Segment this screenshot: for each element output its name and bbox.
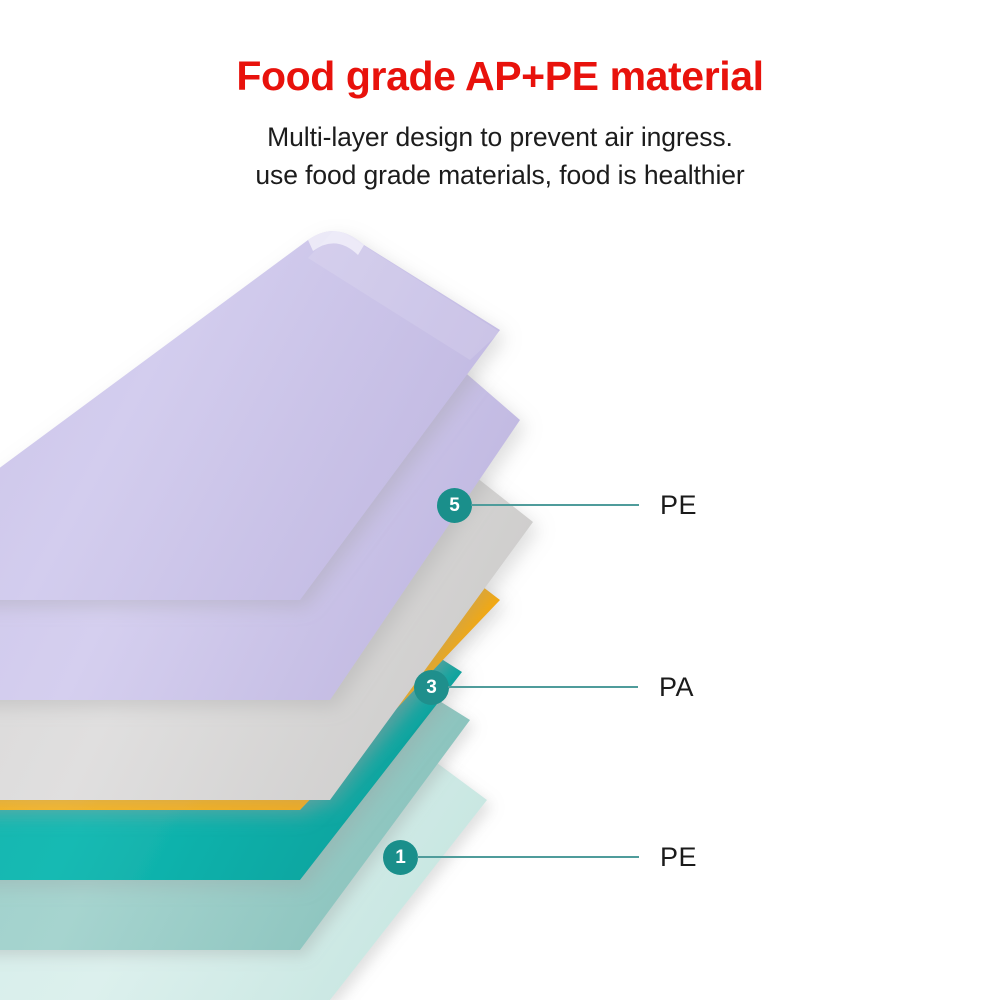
callout-label-1: PE bbox=[660, 842, 697, 873]
callout-leader-line-1 bbox=[417, 856, 639, 858]
callout-label-3: PA bbox=[659, 672, 694, 703]
page-title: Food grade AP+PE material bbox=[0, 0, 1000, 99]
infographic-canvas: Food grade AP+PE material Multi-layer de… bbox=[0, 0, 1000, 1000]
header: Food grade AP+PE material Multi-layer de… bbox=[0, 0, 1000, 194]
callout-badge-1: 1 bbox=[383, 840, 418, 875]
callout-label-5: PE bbox=[660, 490, 697, 521]
subtitle-line-1: Multi-layer design to prevent air ingres… bbox=[0, 119, 1000, 157]
subtitle-line-2: use food grade materials, food is health… bbox=[0, 157, 1000, 195]
callout-5: 5 PE bbox=[437, 485, 697, 525]
callout-3: 3 PA bbox=[414, 667, 694, 707]
callout-badge-5: 5 bbox=[437, 488, 472, 523]
callout-1: 1 PE bbox=[383, 837, 697, 877]
callout-leader-line-3 bbox=[448, 686, 638, 688]
callout-leader-line-5 bbox=[471, 504, 639, 506]
callout-badge-3: 3 bbox=[414, 670, 449, 705]
subtitle: Multi-layer design to prevent air ingres… bbox=[0, 99, 1000, 194]
